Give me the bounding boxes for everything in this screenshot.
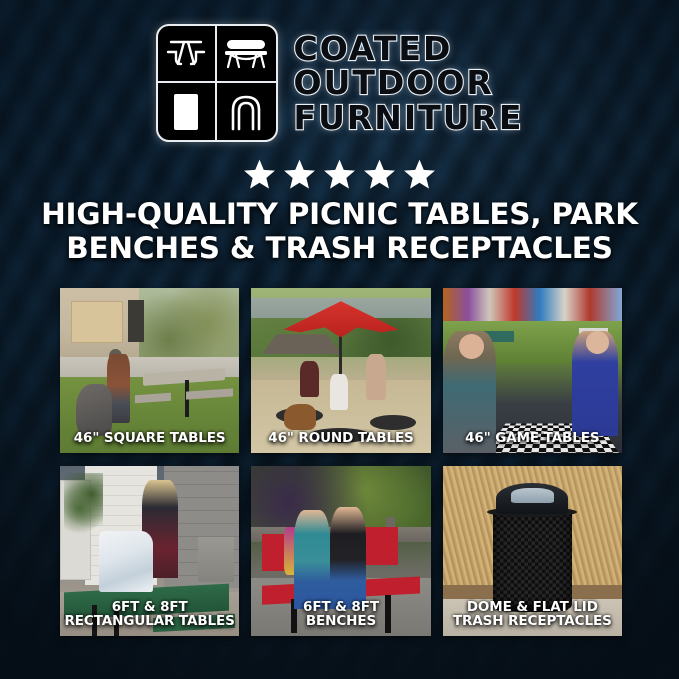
product-category-banner: COATED OUTDOOR FURNITURE HIGH-QUALITY PI… — [0, 0, 679, 679]
star-icon — [363, 158, 396, 191]
square-tables-photo — [60, 288, 239, 453]
category-tile-game-tables[interactable]: 46" GAME TABLES — [443, 288, 622, 453]
caption-line-1: 46" SQUARE TABLES — [63, 431, 236, 446]
brand-logo: COATED OUTDOOR FURNITURE — [0, 24, 679, 142]
star-rating — [0, 158, 679, 191]
bike-rack-icon — [217, 83, 276, 140]
category-tile-caption: 6FT & 8FT BENCHES — [251, 600, 430, 629]
headline-line-1: HIGH-QUALITY PICNIC TABLES, PARK — [26, 198, 653, 232]
category-tile-caption: 46" GAME TABLES — [443, 431, 622, 446]
category-tile-caption: DOME & FLAT LID TRASH RECEPTACLES — [443, 600, 622, 629]
logo-word-furniture: FURNITURE — [294, 101, 524, 135]
caption-line-1: 46" ROUND TABLES — [254, 431, 427, 446]
caption-line-1: 46" GAME TABLES — [446, 431, 619, 446]
logo-wordmark: COATED OUTDOOR FURNITURE — [294, 32, 524, 135]
category-tile-caption: 46" SQUARE TABLES — [60, 431, 239, 446]
logo-word-outdoor: OUTDOOR — [294, 66, 524, 100]
caption-line-2: BENCHES — [254, 614, 427, 629]
category-tile-benches[interactable]: 6FT & 8FT BENCHES — [251, 466, 430, 636]
category-tile-rectangular-tables[interactable]: 6FT & 8FT RECTANGULAR TABLES — [60, 466, 239, 636]
round-tables-photo — [251, 288, 430, 453]
logo-word-coated: COATED — [294, 32, 524, 66]
trash-receptacle-icon — [158, 83, 217, 140]
park-bench-icon — [217, 26, 276, 83]
logo-mark-icon-grid — [156, 24, 278, 142]
category-tile-caption: 6FT & 8FT RECTANGULAR TABLES — [60, 600, 239, 629]
headline-line-2: BENCHES & TRASH RECEPTACLES — [26, 232, 653, 266]
picnic-table-icon — [158, 26, 217, 83]
category-tile-caption: 46" ROUND TABLES — [251, 431, 430, 446]
caption-line-2: TRASH RECEPTACLES — [446, 614, 619, 629]
star-icon — [283, 158, 316, 191]
game-tables-photo — [443, 288, 622, 453]
star-icon — [243, 158, 276, 191]
star-icon — [403, 158, 436, 191]
category-tile-round-tables[interactable]: 46" ROUND TABLES — [251, 288, 430, 453]
product-category-grid: 46" SQUARE TABLES 46" ROUND TABLES — [60, 288, 622, 636]
star-icon — [323, 158, 356, 191]
headline: HIGH-QUALITY PICNIC TABLES, PARK BENCHES… — [0, 198, 679, 265]
caption-line-2: RECTANGULAR TABLES — [63, 614, 236, 629]
category-tile-square-tables[interactable]: 46" SQUARE TABLES — [60, 288, 239, 453]
category-tile-trash-receptacles[interactable]: DOME & FLAT LID TRASH RECEPTACLES — [443, 466, 622, 636]
